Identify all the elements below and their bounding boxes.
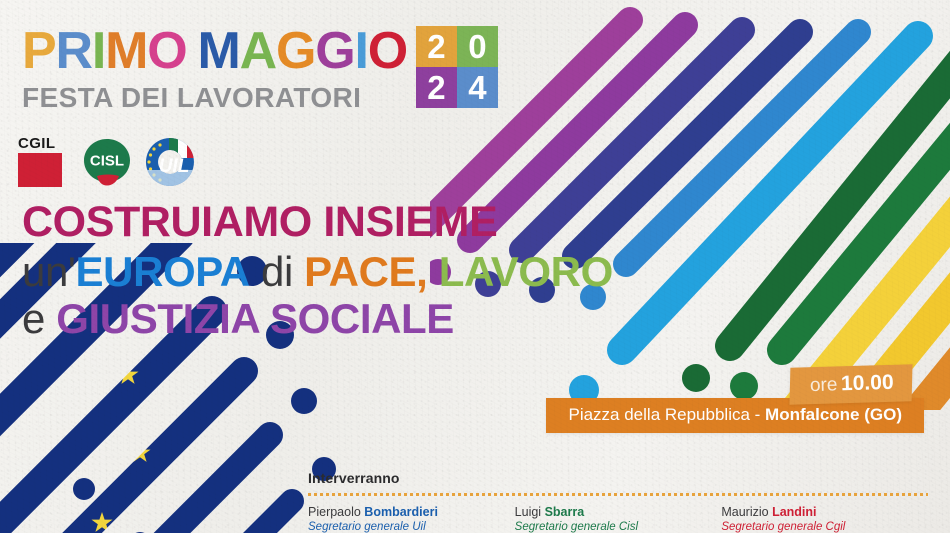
year-badge-2024: 2024 <box>416 26 498 108</box>
cisl-logo: CISL <box>81 136 133 188</box>
slogan-run-l3-0: e <box>22 295 56 342</box>
event-time-value: 10.00 <box>841 371 894 396</box>
speaker-role-1: Segretario generale Cisl <box>515 520 722 533</box>
subtitle: FESTA DEI LAVORATORI <box>22 82 407 114</box>
speakers-divider <box>308 493 928 496</box>
event-time-label: ore <box>810 374 838 397</box>
slogan-line-3: e GIUSTIZIA SOCIALE <box>22 297 613 341</box>
cgil-logo-label: CGIL <box>18 136 71 151</box>
cgil-red-square <box>18 153 62 187</box>
speaker-name-1: Luigi Sbarra <box>515 505 722 520</box>
year-digit-3: 4 <box>457 67 498 108</box>
title-letter-2: I <box>92 22 105 80</box>
poster-canvas: PRIMO MAGGIO FESTA DEI LAVORATORI 2024 C… <box>0 0 950 533</box>
title-letter-8: G <box>276 22 315 80</box>
slogan-run-l2-3: PACE, <box>304 248 427 295</box>
speaker-name-2: Maurizio Landini <box>721 505 928 520</box>
speaker-role-2: Segretario generale Cgil <box>721 520 928 533</box>
title-letter-11: O <box>368 22 407 80</box>
speaker-firstname-1: Luigi <box>515 505 545 519</box>
slogan-run-l3-1: GIUSTIZIA SOCIALE <box>56 295 454 342</box>
title-letter-4: O <box>147 22 186 80</box>
speaker-2: Maurizio LandiniSegretario generale Cgil <box>721 505 928 533</box>
title-letter-10: I <box>354 22 367 80</box>
title-letter-3: M <box>105 22 147 80</box>
speaker-surname-0: Bombardieri <box>364 505 438 519</box>
speaker-1: Luigi SbarraSegretario generale Cisl <box>515 505 722 533</box>
uil-logo: UIL <box>143 136 197 188</box>
cgil-logo: CGIL <box>18 136 71 188</box>
slogan-run-l2-2: di <box>250 248 304 295</box>
slogan-line-1: COSTRUIAMO INSIEME <box>22 200 613 245</box>
cisl-logo-label: CISL <box>90 153 124 170</box>
speakers-section: Interverranno Pierpaolo BombardieriSegre… <box>308 470 928 533</box>
uil-logo-label: UIL <box>159 156 190 177</box>
year-digit-0: 2 <box>416 26 457 67</box>
event-time-badge: ore10.00 <box>789 364 912 404</box>
year-digit-2: 2 <box>416 67 457 108</box>
title-letter-0: P <box>22 22 55 80</box>
speakers-heading: Interverranno <box>308 470 928 486</box>
speaker-name-0: Pierpaolo Bombardieri <box>308 505 515 520</box>
title-letter-5 <box>186 22 197 80</box>
slogan-line-2: un'EUROPA di PACE, LAVORO <box>22 250 613 294</box>
poster-header: PRIMO MAGGIO FESTA DEI LAVORATORI 2024 <box>22 22 498 114</box>
title-letter-9: G <box>315 22 354 80</box>
speaker-role-0: Segretario generale Uil <box>308 520 515 533</box>
event-venue-prefix: Piazza della Repubblica - <box>568 405 765 424</box>
union-logos: CGIL CISL <box>18 136 197 188</box>
title-letter-7: A <box>240 22 276 80</box>
page-title: PRIMO MAGGIO <box>22 22 407 80</box>
slogan-run-l2-4: LAVORO <box>427 248 612 295</box>
slogan-run-l2-0: un' <box>22 248 76 295</box>
speaker-surname-1: Sbarra <box>545 505 585 519</box>
title-letter-6: M <box>197 22 239 80</box>
title-letter-1: R <box>55 22 91 80</box>
event-venue-badge: Piazza della Repubblica - Monfalcone (GO… <box>546 398 924 433</box>
speaker-firstname-2: Maurizio <box>721 505 772 519</box>
speaker-0: Pierpaolo BombardieriSegretario generale… <box>308 505 515 533</box>
slogan-run-l2-1: EUROPA <box>76 248 250 295</box>
event-venue-place: Monfalcone (GO) <box>765 405 902 424</box>
speakers-list: Pierpaolo BombardieriSegretario generale… <box>308 505 928 533</box>
speaker-firstname-0: Pierpaolo <box>308 505 364 519</box>
slogan-block: COSTRUIAMO INSIEME un'EUROPA di PACE, LA… <box>22 200 613 341</box>
speaker-surname-2: Landini <box>772 505 816 519</box>
year-digit-1: 0 <box>457 26 498 67</box>
title-row: PRIMO MAGGIO FESTA DEI LAVORATORI 2024 <box>22 22 498 114</box>
